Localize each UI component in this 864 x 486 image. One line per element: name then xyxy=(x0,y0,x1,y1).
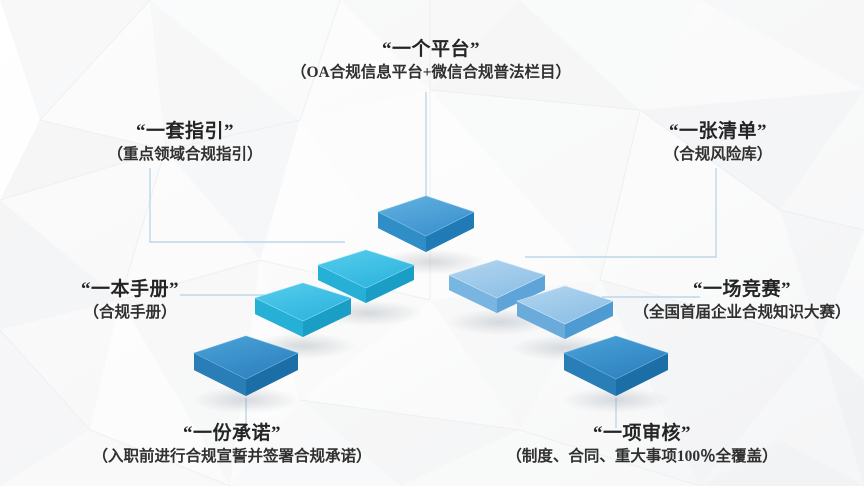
label-platform-title: “一个平台” xyxy=(205,38,657,62)
label-competition: “一场竞赛” （全国首届企业合规知识大赛） xyxy=(620,278,864,323)
label-platform-subtitle: （OA合规信息平台+微信合规普法栏目） xyxy=(205,63,657,83)
label-guideline-subtitle: （重点领域合规指引） xyxy=(40,145,330,165)
label-competition-title: “一场竞赛” xyxy=(620,278,864,302)
label-audit-subtitle: （制度、合同、重大事项100％全覆盖） xyxy=(452,447,832,467)
label-promise-subtitle: （入职前进行合规宣誓并签署合规承诺） xyxy=(52,447,412,467)
label-risklist-subtitle: （合规风险库） xyxy=(578,145,858,165)
label-competition-subtitle: （全国首届企业合规知识大赛） xyxy=(620,303,864,323)
slide-canvas: “一个平台” （OA合规信息平台+微信合规普法栏目） “一套指引” （重点领域合… xyxy=(0,0,864,486)
label-risklist-title: “一张清单” xyxy=(578,120,858,144)
label-manual-title: “一本手册” xyxy=(5,278,255,302)
label-manual-subtitle: （合规手册） xyxy=(5,303,255,323)
block-manual[interactable] xyxy=(255,283,351,337)
label-audit: “一项审核” （制度、合同、重大事项100％全覆盖） xyxy=(452,422,832,467)
block-platform[interactable] xyxy=(378,196,474,252)
label-promise: “一份承诺” （入职前进行合规宣誓并签署合规承诺） xyxy=(52,422,412,467)
label-manual: “一本手册” （合规手册） xyxy=(5,278,255,323)
label-audit-title: “一项审核” xyxy=(452,422,832,446)
label-promise-title: “一份承诺” xyxy=(52,422,412,446)
label-guideline: “一套指引” （重点领域合规指引） xyxy=(40,120,330,165)
label-guideline-title: “一套指引” xyxy=(40,120,330,144)
label-risklist: “一张清单” （合规风险库） xyxy=(578,120,858,165)
label-platform: “一个平台” （OA合规信息平台+微信合规普法栏目） xyxy=(205,38,657,83)
